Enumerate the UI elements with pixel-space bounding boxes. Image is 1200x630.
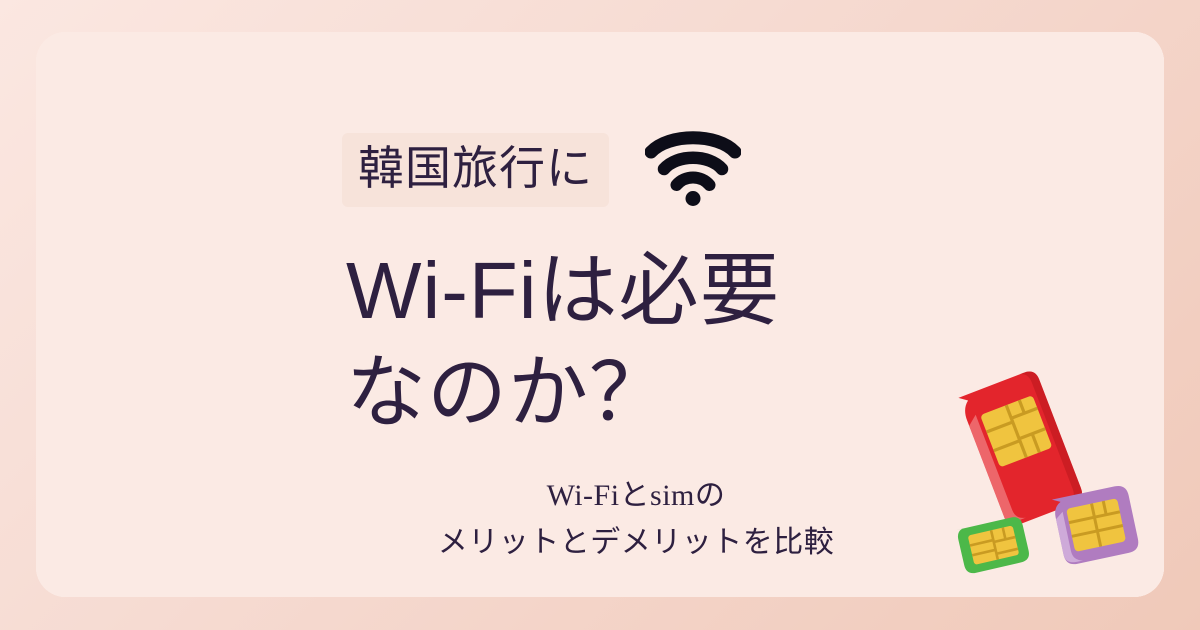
sim-card-green <box>944 500 1044 591</box>
sim-card-purple <box>1036 464 1164 589</box>
card-content: 韓国旅行に Wi-Fiは必要 なのか？ Wi-Fiとsimの メリットとデメリッ… <box>36 32 1164 597</box>
sim-cards-illustration <box>36 32 1164 597</box>
content-card: 韓国旅行に Wi-Fiは必要 なのか？ Wi-Fiとsimの メリットとデメリッ… <box>36 32 1164 597</box>
